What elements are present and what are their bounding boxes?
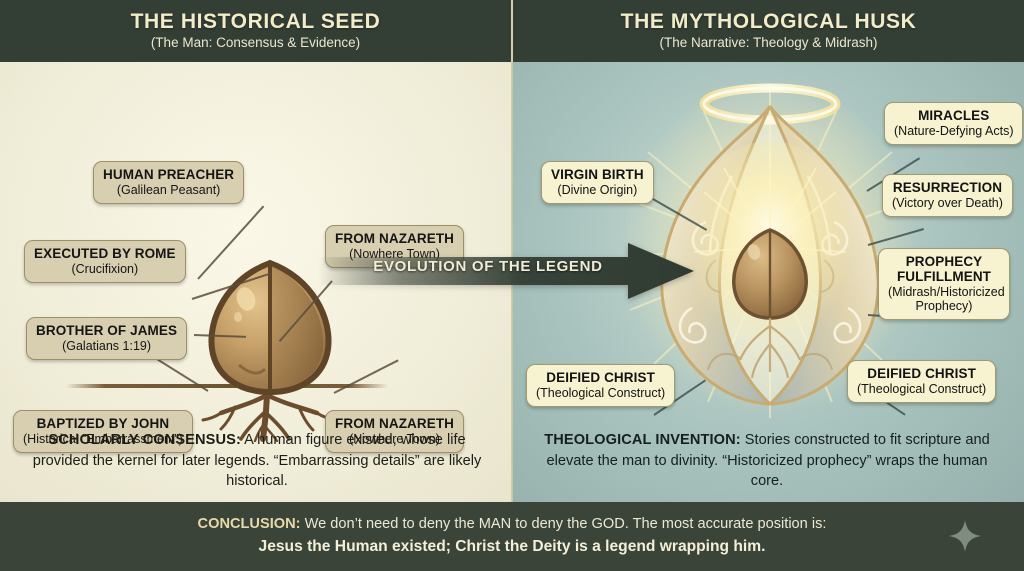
header-right-subtitle: (The Narrative: Theology & Midrash)	[659, 36, 877, 51]
footer-lead: CONCLUSION:	[198, 516, 301, 532]
right-summary: THEOLOGICAL INVENTION: Stories construct…	[532, 430, 1002, 492]
header-left: THE HISTORICAL SEED (The Man: Consensus …	[0, 0, 513, 62]
label-prophecy-fulfillment[interactable]: PROPHECY FULFILLMENT (Midrash/Historiciz…	[878, 248, 1010, 320]
footer-line-1-text: We don’t need to deny the MAN to deny th…	[301, 516, 827, 532]
label-brother-of-james[interactable]: BROTHER OF JAMES (Galatians 1:19)	[26, 317, 187, 360]
evolution-arrow	[318, 243, 694, 299]
label-virgin-birth[interactable]: VIRGIN BIRTH (Divine Origin)	[541, 161, 654, 204]
label-subtitle: (Crucifixion)	[34, 262, 176, 276]
label-subtitle: (Galilean Peasant)	[103, 183, 234, 197]
label-title: FROM NAZARETH	[335, 416, 454, 431]
header-left-title: THE HISTORICAL SEED	[131, 11, 381, 33]
infographic-canvas: THE HISTORICAL SEED (The Man: Consensus …	[0, 0, 1024, 571]
right-summary-lead: THEOLOGICAL INVENTION:	[544, 432, 741, 448]
label-title: DEIFIED CHRIST	[857, 366, 986, 381]
header-right-title: THE MYTHOLOGICAL HUSK	[621, 11, 917, 33]
label-title: BROTHER OF JAMES	[36, 323, 177, 338]
label-title: RESURRECTION	[892, 180, 1003, 195]
label-title: EXECUTED BY ROME	[34, 246, 176, 261]
left-summary: SCHOLARLY CONSENSUS: A human figure exis…	[22, 430, 492, 492]
header-bar: THE HISTORICAL SEED (The Man: Consensus …	[0, 0, 1024, 62]
label-title: BAPTIZED BY JOHN	[23, 416, 183, 431]
label-subtitle: (Nature-Defying Acts)	[894, 124, 1013, 138]
label-title: VIRGIN BIRTH	[551, 167, 644, 182]
label-executed-by-rome[interactable]: EXECUTED BY ROME (Crucifixion)	[24, 240, 186, 283]
label-human-preacher[interactable]: HUMAN PREACHER (Galilean Peasant)	[93, 161, 244, 204]
label-title: HUMAN PREACHER	[103, 167, 234, 182]
left-summary-lead: SCHOLARLY CONSENSUS:	[48, 432, 241, 448]
footer-line-2: Jesus the Human existed; Christ the Deit…	[259, 537, 766, 557]
label-subtitle: (Divine Origin)	[551, 183, 644, 197]
label-subtitle: (Midrash/Historicized Prophecy)	[888, 285, 1000, 313]
four-point-star-icon	[948, 519, 982, 553]
label-title: DEIFIED CHRIST	[536, 370, 665, 385]
header-right: THE MYTHOLOGICAL HUSK (The Narrative: Th…	[513, 0, 1024, 62]
label-miracles[interactable]: MIRACLES (Nature-Defying Acts)	[884, 102, 1023, 145]
conclusion-footer: CONCLUSION: We don’t need to deny the MA…	[0, 502, 1024, 571]
label-title: PROPHECY FULFILLMENT	[888, 254, 1000, 284]
label-subtitle: (Theological Construct)	[857, 382, 986, 396]
label-title: MIRACLES	[894, 108, 1013, 123]
footer-line-1: CONCLUSION: We don’t need to deny the MA…	[198, 515, 827, 534]
label-deified-christ-right[interactable]: DEIFIED CHRIST (Theological Construct)	[847, 360, 996, 403]
label-subtitle: (Galatians 1:19)	[36, 339, 177, 353]
label-subtitle: (Victory over Death)	[892, 196, 1003, 210]
label-resurrection[interactable]: RESURRECTION (Victory over Death)	[882, 174, 1013, 217]
label-deified-christ-left[interactable]: DEIFIED CHRIST (Theological Construct)	[526, 364, 675, 407]
label-subtitle: (Theological Construct)	[536, 386, 665, 400]
header-left-subtitle: (The Man: Consensus & Evidence)	[151, 36, 360, 51]
